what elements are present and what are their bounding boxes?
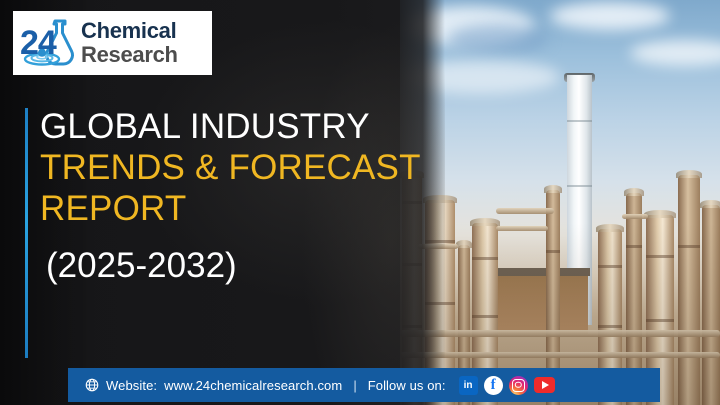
logo-word-chemical: Chemical <box>81 20 178 42</box>
refinery-tower <box>678 175 700 405</box>
globe-icon <box>85 378 99 392</box>
website-label: Website: <box>106 378 157 393</box>
facebook-glyph: f <box>491 378 496 393</box>
footer-separator: | <box>353 378 356 393</box>
linkedin-icon[interactable]: in <box>459 376 478 395</box>
headline-year-range: (2025-2032) <box>40 245 421 286</box>
headline-line-1: GLOBAL INDUSTRY <box>40 106 421 147</box>
pipeline <box>622 214 648 219</box>
facebook-icon[interactable]: f <box>484 376 503 395</box>
footer-content: Website: www.24chemicalresearch.com | Fo… <box>85 376 555 395</box>
cloud <box>448 24 548 54</box>
pipeline <box>496 226 548 231</box>
cloud <box>550 2 670 30</box>
refinery-photo <box>400 0 720 405</box>
linkedin-glyph: in <box>464 380 473 391</box>
footer-bar: Website: www.24chemicalresearch.com | Fo… <box>68 368 660 402</box>
logo-wordmark: Chemical Research <box>81 20 178 66</box>
headline-block: GLOBAL INDUSTRY TRENDS & FORECAST REPORT… <box>40 106 421 286</box>
headline-line-2: TRENDS & FORECAST <box>40 147 421 188</box>
plant-roof <box>482 268 590 276</box>
follow-us-label: Follow us on: <box>368 378 446 393</box>
pipeline <box>400 352 720 358</box>
social-links: in f <box>459 376 555 395</box>
flask-icon: 24 <box>19 15 85 71</box>
youtube-play-glyph <box>542 381 549 389</box>
brand-logo[interactable]: 24 Chemical Research <box>13 11 212 75</box>
instagram-icon[interactable] <box>509 376 528 395</box>
youtube-icon[interactable] <box>534 377 555 393</box>
pipeline <box>496 208 554 214</box>
smokestack-band <box>567 120 592 122</box>
logo-number: 24 <box>20 24 56 63</box>
logo-word-research: Research <box>81 44 178 66</box>
website-url[interactable]: www.24chemicalresearch.com <box>164 378 342 393</box>
refinery-tower <box>702 205 720 405</box>
pipeline <box>400 330 720 337</box>
accent-bar <box>25 108 28 358</box>
plant-building <box>484 276 588 334</box>
report-banner: 24 Chemical Research GLOBAL INDUSTRY TRE… <box>0 0 720 405</box>
smokestack-band <box>567 185 592 187</box>
headline-line-3: REPORT <box>40 188 421 229</box>
instagram-camera-glyph <box>512 379 525 392</box>
